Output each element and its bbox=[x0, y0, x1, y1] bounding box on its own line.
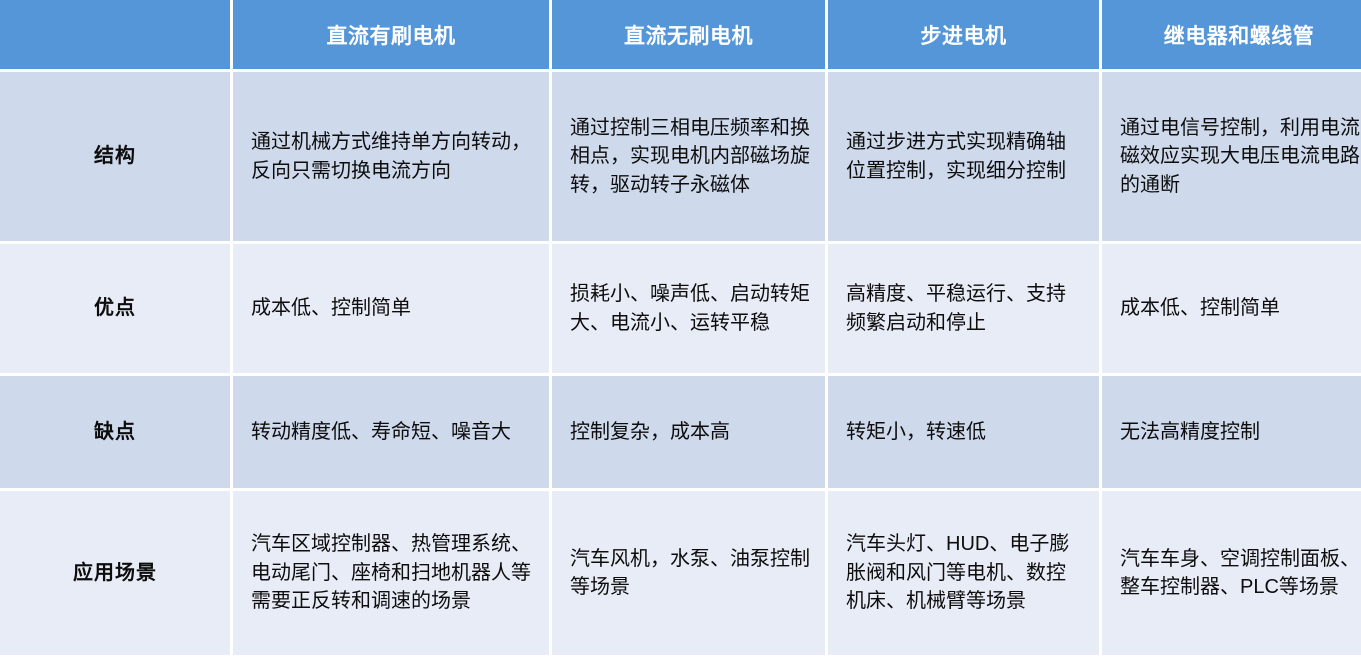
cell-structure-relay-solenoid: 通过电信号控制，利用电流磁效应实现大电压电流电路的通断 bbox=[1102, 72, 1361, 241]
comparison-table: 直流有刷电机 直流无刷电机 步进电机 继电器和螺线管 结构 通过机械方式维持单方… bbox=[0, 0, 1361, 658]
cell-structure-dc-brushed-motor: 通过机械方式维持单方向转动，反向只需切换电流方向 bbox=[233, 72, 549, 241]
row-label-structure: 结构 bbox=[0, 72, 230, 241]
table-header: 直流有刷电机 直流无刷电机 步进电机 继电器和螺线管 bbox=[0, 0, 1361, 69]
row-label-advantages: 优点 bbox=[0, 244, 230, 373]
header-corner-cell bbox=[0, 0, 230, 69]
row-label-applications: 应用场景 bbox=[0, 491, 230, 655]
cell-disadvantages-dc-brushless-motor: 控制复杂，成本高 bbox=[552, 376, 825, 488]
cell-structure-dc-brushless-motor: 通过控制三相电压频率和换相点，实现电机内部磁场旋转，驱动转子永磁体 bbox=[552, 72, 825, 241]
column-header-dc-brushed-motor: 直流有刷电机 bbox=[233, 0, 549, 69]
column-header-stepper-motor: 步进电机 bbox=[828, 0, 1099, 69]
cell-disadvantages-dc-brushed-motor: 转动精度低、寿命短、噪音大 bbox=[233, 376, 549, 488]
cell-disadvantages-stepper-motor: 转矩小，转速低 bbox=[828, 376, 1099, 488]
row-label-disadvantages: 缺点 bbox=[0, 376, 230, 488]
table-row-applications: 应用场景 汽车区域控制器、热管理系统、电动尾门、座椅和扫地机器人等需要正反转和调… bbox=[0, 491, 1361, 655]
cell-applications-dc-brushed-motor: 汽车区域控制器、热管理系统、电动尾门、座椅和扫地机器人等需要正反转和调速的场景 bbox=[233, 491, 549, 655]
header-row: 直流有刷电机 直流无刷电机 步进电机 继电器和螺线管 bbox=[0, 0, 1361, 69]
cell-structure-stepper-motor: 通过步进方式实现精确轴位置控制，实现细分控制 bbox=[828, 72, 1099, 241]
table-row-disadvantages: 缺点 转动精度低、寿命短、噪音大 控制复杂，成本高 转矩小，转速低 无法高精度控… bbox=[0, 376, 1361, 488]
cell-advantages-stepper-motor: 高精度、平稳运行、支持频繁启动和停止 bbox=[828, 244, 1099, 373]
cell-applications-stepper-motor: 汽车头灯、HUD、电子膨胀阀和风门等电机、数控机床、机械臂等场景 bbox=[828, 491, 1099, 655]
cell-applications-relay-solenoid: 汽车车身、空调控制面板、整车控制器、PLC等场景 bbox=[1102, 491, 1361, 655]
cell-advantages-relay-solenoid: 成本低、控制简单 bbox=[1102, 244, 1361, 373]
cell-applications-dc-brushless-motor: 汽车风机，水泵、油泵控制等场景 bbox=[552, 491, 825, 655]
table-row-advantages: 优点 成本低、控制简单 损耗小、噪声低、启动转矩大、电流小、运转平稳 高精度、平… bbox=[0, 244, 1361, 373]
cell-disadvantages-relay-solenoid: 无法高精度控制 bbox=[1102, 376, 1361, 488]
column-header-dc-brushless-motor: 直流无刷电机 bbox=[552, 0, 825, 69]
table-row-structure: 结构 通过机械方式维持单方向转动，反向只需切换电流方向 通过控制三相电压频率和换… bbox=[0, 72, 1361, 241]
cell-advantages-dc-brushless-motor: 损耗小、噪声低、启动转矩大、电流小、运转平稳 bbox=[552, 244, 825, 373]
column-header-relay-solenoid: 继电器和螺线管 bbox=[1102, 0, 1361, 69]
cell-advantages-dc-brushed-motor: 成本低、控制简单 bbox=[233, 244, 549, 373]
table-body: 结构 通过机械方式维持单方向转动，反向只需切换电流方向 通过控制三相电压频率和换… bbox=[0, 72, 1361, 655]
